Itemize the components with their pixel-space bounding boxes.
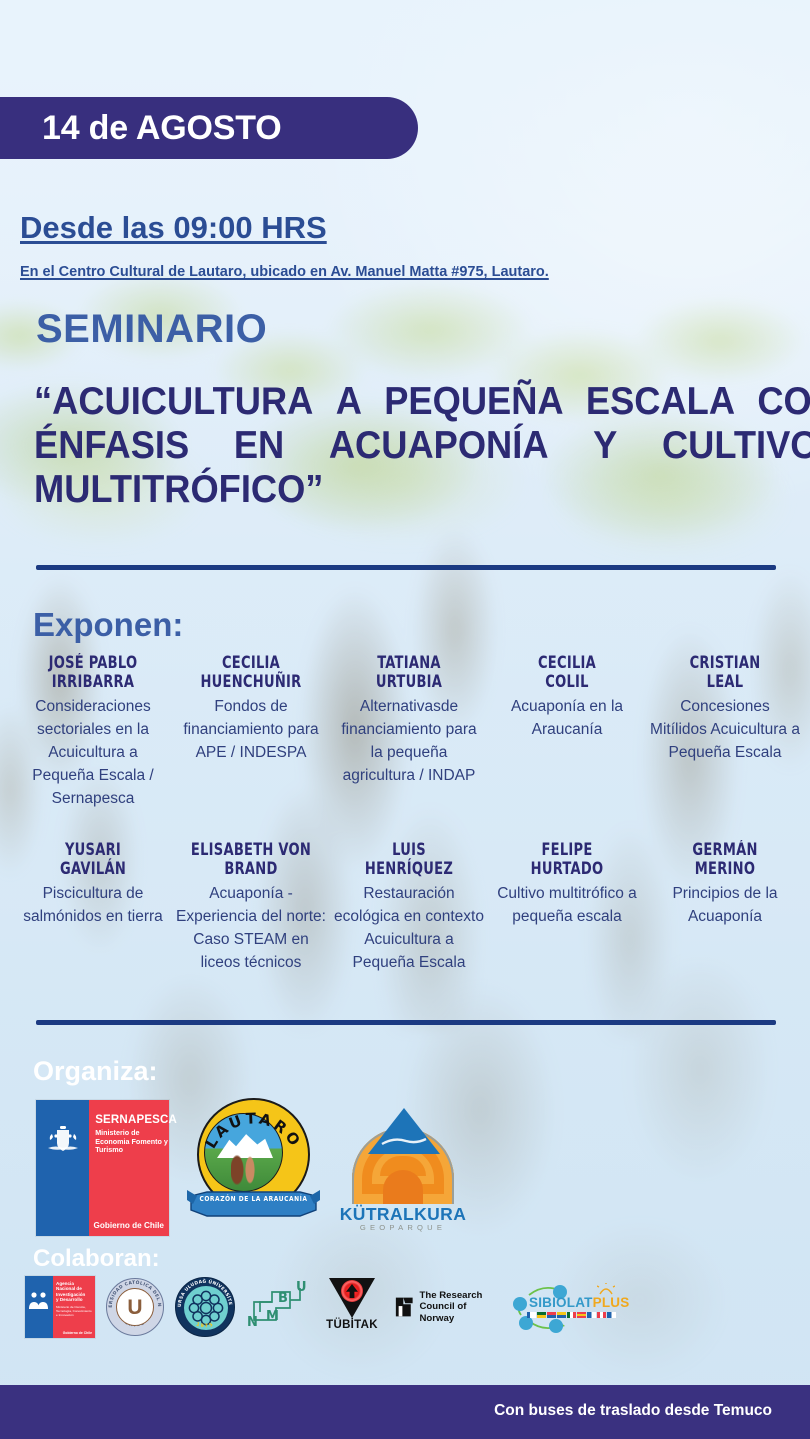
svg-text:M: M [266, 1309, 279, 1324]
collaborators-heading: Colaboran: [33, 1245, 160, 1273]
speaker-card: GERMÁNMERINO Principios de la Acuaponía [646, 840, 804, 974]
svg-text:1975: 1975 [195, 1322, 215, 1330]
speaker-card: CECILIACOLIL Acuaponía en la Araucanía [488, 653, 646, 810]
sibiolat-bubble-fish-icon [549, 1319, 563, 1333]
speakers-heading: Exponen: [33, 606, 183, 644]
kutralkura-volcano-icon [368, 1108, 440, 1154]
svg-text:BURSA ULUDAĞ ÜNİVERSİTESİ: BURSA ULUDAĞ ÜNİVERSİTESİ [176, 1278, 233, 1307]
speaker-topic: Acuaponía en la Araucanía [492, 695, 642, 741]
chile-coat-of-arms-icon [46, 1124, 80, 1154]
lautaro-banner-text: CORAZÓN DE LA ARAUCANÍA [187, 1195, 320, 1203]
sernapesca-government-label: Gobierno de Chile [93, 1221, 164, 1230]
sibiolat-country-flags [527, 1312, 616, 1318]
tubitak-logo: TÜBİTAK [321, 1276, 383, 1338]
speaker-topic: Concesiones Mitílidos Acuicultura a Pequ… [650, 695, 800, 764]
sibiolat-name-primary: SIBIOLAT [529, 1295, 593, 1310]
event-title: “ACUICULTURAAPEQUEÑAESCALACON ÉNFASISENA… [34, 380, 727, 512]
sibiolat-sun-icon [597, 1283, 615, 1295]
kutralkura-geopark-logo: KÜTRALKURA GEOPARQUE [338, 1106, 468, 1236]
speaker-topic: Cultivo multitrófico a pequeña escala [492, 882, 642, 928]
ucn-monogram: U [127, 1297, 142, 1318]
event-title-line-1: “ACUICULTURAAPEQUEÑAESCALACON [34, 380, 727, 424]
svg-text:LAUTARO: LAUTARO [202, 1109, 306, 1151]
speaker-name: CECILIACOLIL [501, 653, 633, 691]
collaborator-logos: Agencia Nacional de Investigación y Desa… [25, 1276, 625, 1338]
date-badge-label: 14 de AGOSTO [42, 109, 281, 148]
speaker-card: YUSARIGAVILÁN Piscicultura de salmónidos… [14, 840, 172, 974]
sibiolat-bubble-globe-icon [519, 1316, 533, 1330]
speaker-name: CRISTIANLEAL [659, 653, 791, 691]
anid-government-label: Gobierno de Chile [63, 1331, 92, 1335]
speaker-topic: Fondos de financiamiento para APE / INDE… [176, 695, 326, 764]
speaker-topic: Principios de la Acuaponía [650, 882, 800, 928]
chile-flag-crest-logo: SERNAPESCA Ministerio de Economia Foment… [36, 1100, 169, 1236]
anid-people-icon [27, 1290, 51, 1310]
research-council-norway-name: The Research Council of Norway [420, 1290, 499, 1324]
svg-text:N: N [247, 1315, 258, 1330]
anid-name: Agencia Nacional de Investigación y Desa… [56, 1281, 85, 1303]
event-title-line-2: ÉNFASISENACUAPONÍAYCULTIVO [34, 424, 727, 468]
research-council-norway-logo: The Research Council of Norway [394, 1290, 498, 1324]
speaker-name: TATIANAURTUBIA [343, 653, 475, 691]
speaker-card: TATIANAURTUBIA Alternativasde financiami… [330, 653, 488, 810]
speaker-name: LUISHENRÍQUEZ [343, 840, 475, 878]
speaker-name: JOSÉ PABLOIRRIBARRA [27, 653, 159, 691]
uludag-university-seal: BURSA ULUDAĞ ÜNİVERSİTESİ 1975 [175, 1277, 235, 1337]
date-badge: 14 de AGOSTO [0, 97, 418, 159]
sernapesca-name: SERNAPESCA [95, 1114, 177, 1127]
speaker-name: ELISABETH VONBRAND [185, 840, 317, 878]
speaker-topic: Piscicultura de salmónidos en tierra [18, 882, 168, 928]
speaker-name: YUSARIGAVILÁN [27, 840, 159, 878]
event-time: Desde las 09:00 HRS [20, 210, 327, 246]
event-title-line-3: MULTITRÓFICO” [34, 468, 727, 512]
speaker-card: ELISABETH VONBRAND Acuaponía - Experienc… [172, 840, 330, 974]
sibiolat-name: SIBIOLATPLUS [529, 1295, 629, 1310]
svg-text:B: B [278, 1291, 288, 1306]
speakers-row-2: YUSARIGAVILÁN Piscicultura de salmónidos… [14, 840, 804, 974]
footer-note: Con buses de traslado desde Temuco [494, 1402, 772, 1420]
speaker-card: FELIPEHURTADO Cultivo multitrófico a peq… [488, 840, 646, 974]
speaker-topic: Acuaponía - Experiencia del norte: Caso … [176, 882, 326, 974]
kutralkura-subtitle: GEOPARQUE [338, 1223, 468, 1232]
anid-ministry: Ministerio de Ciencia, Tecnología, Conoc… [56, 1306, 92, 1317]
speaker-card: LUISHENRÍQUEZ Restauración ecológica en … [330, 840, 488, 974]
speaker-name: GERMÁNMERINO [659, 840, 791, 878]
divider-top [36, 565, 776, 570]
svg-text:U: U [296, 1280, 307, 1295]
speaker-card: JOSÉ PABLOIRRIBARRA Consideraciones sect… [14, 653, 172, 810]
speaker-topic: Alternativasde financiamiento para la pe… [334, 695, 484, 787]
lautaro-ribbon-shape [187, 1188, 320, 1222]
tubitak-name: TÜBİTAK [321, 1319, 383, 1331]
divider-bottom [36, 1020, 776, 1025]
organizer-logos: SERNAPESCA Ministerio de Economia Foment… [36, 1096, 468, 1236]
speaker-topic: Restauración ecológica en contexto Acuic… [334, 882, 484, 974]
organizers-heading: Organiza: [33, 1056, 158, 1087]
anid-chile-logo: Agencia Nacional de Investigación y Desa… [25, 1276, 95, 1338]
lautaro-municipal-seal: LAUTARO CORAZÓN DE LA ARAUCANÍA [187, 1096, 320, 1236]
event-address: En el Centro Cultural de Lautaro, ubicad… [20, 264, 549, 280]
speaker-topic: Consideraciones sectoriales en la Acuicu… [18, 695, 168, 810]
poster-canvas: 14 de AGOSTO Desde las 09:00 HRS En el C… [0, 0, 810, 1439]
bubm-monogram: N M B U [246, 1280, 310, 1334]
uludag-ring-text: BURSA ULUDAĞ ÜNİVERSİTESİ 1975 [176, 1278, 234, 1336]
sibiolat-bubble-water-icon [513, 1297, 527, 1311]
sibiolat-name-secondary: PLUS [593, 1295, 630, 1310]
sibiolat-plus-logo: SIBIOLATPLUS [509, 1281, 625, 1333]
bubm-monogram-icon: N M B U [246, 1280, 310, 1334]
sernapesca-ministry: Ministerio de Economia Fomento y Turismo [95, 1129, 177, 1155]
kutralkura-name: KÜTRALKURA [338, 1204, 468, 1225]
event-kicker: SEMINARIO [36, 307, 267, 352]
speakers-row-1: JOSÉ PABLOIRRIBARRA Consideraciones sect… [14, 653, 804, 810]
speaker-name: FELIPEHURTADO [501, 840, 633, 878]
research-council-norway-mark-icon [394, 1295, 415, 1319]
footer-bar: Con buses de traslado desde Temuco [0, 1385, 810, 1439]
speaker-card: CECILIAHUENCHUÑIR Fondos de financiamien… [172, 653, 330, 810]
speaker-name: CECILIAHUENCHUÑIR [185, 653, 317, 691]
ucn-seal: UNIVERSIDAD CATÓLICA DEL NORTE CHILE U [106, 1278, 164, 1336]
speaker-card: CRISTIANLEAL Concesiones Mitílidos Acuic… [646, 653, 804, 810]
